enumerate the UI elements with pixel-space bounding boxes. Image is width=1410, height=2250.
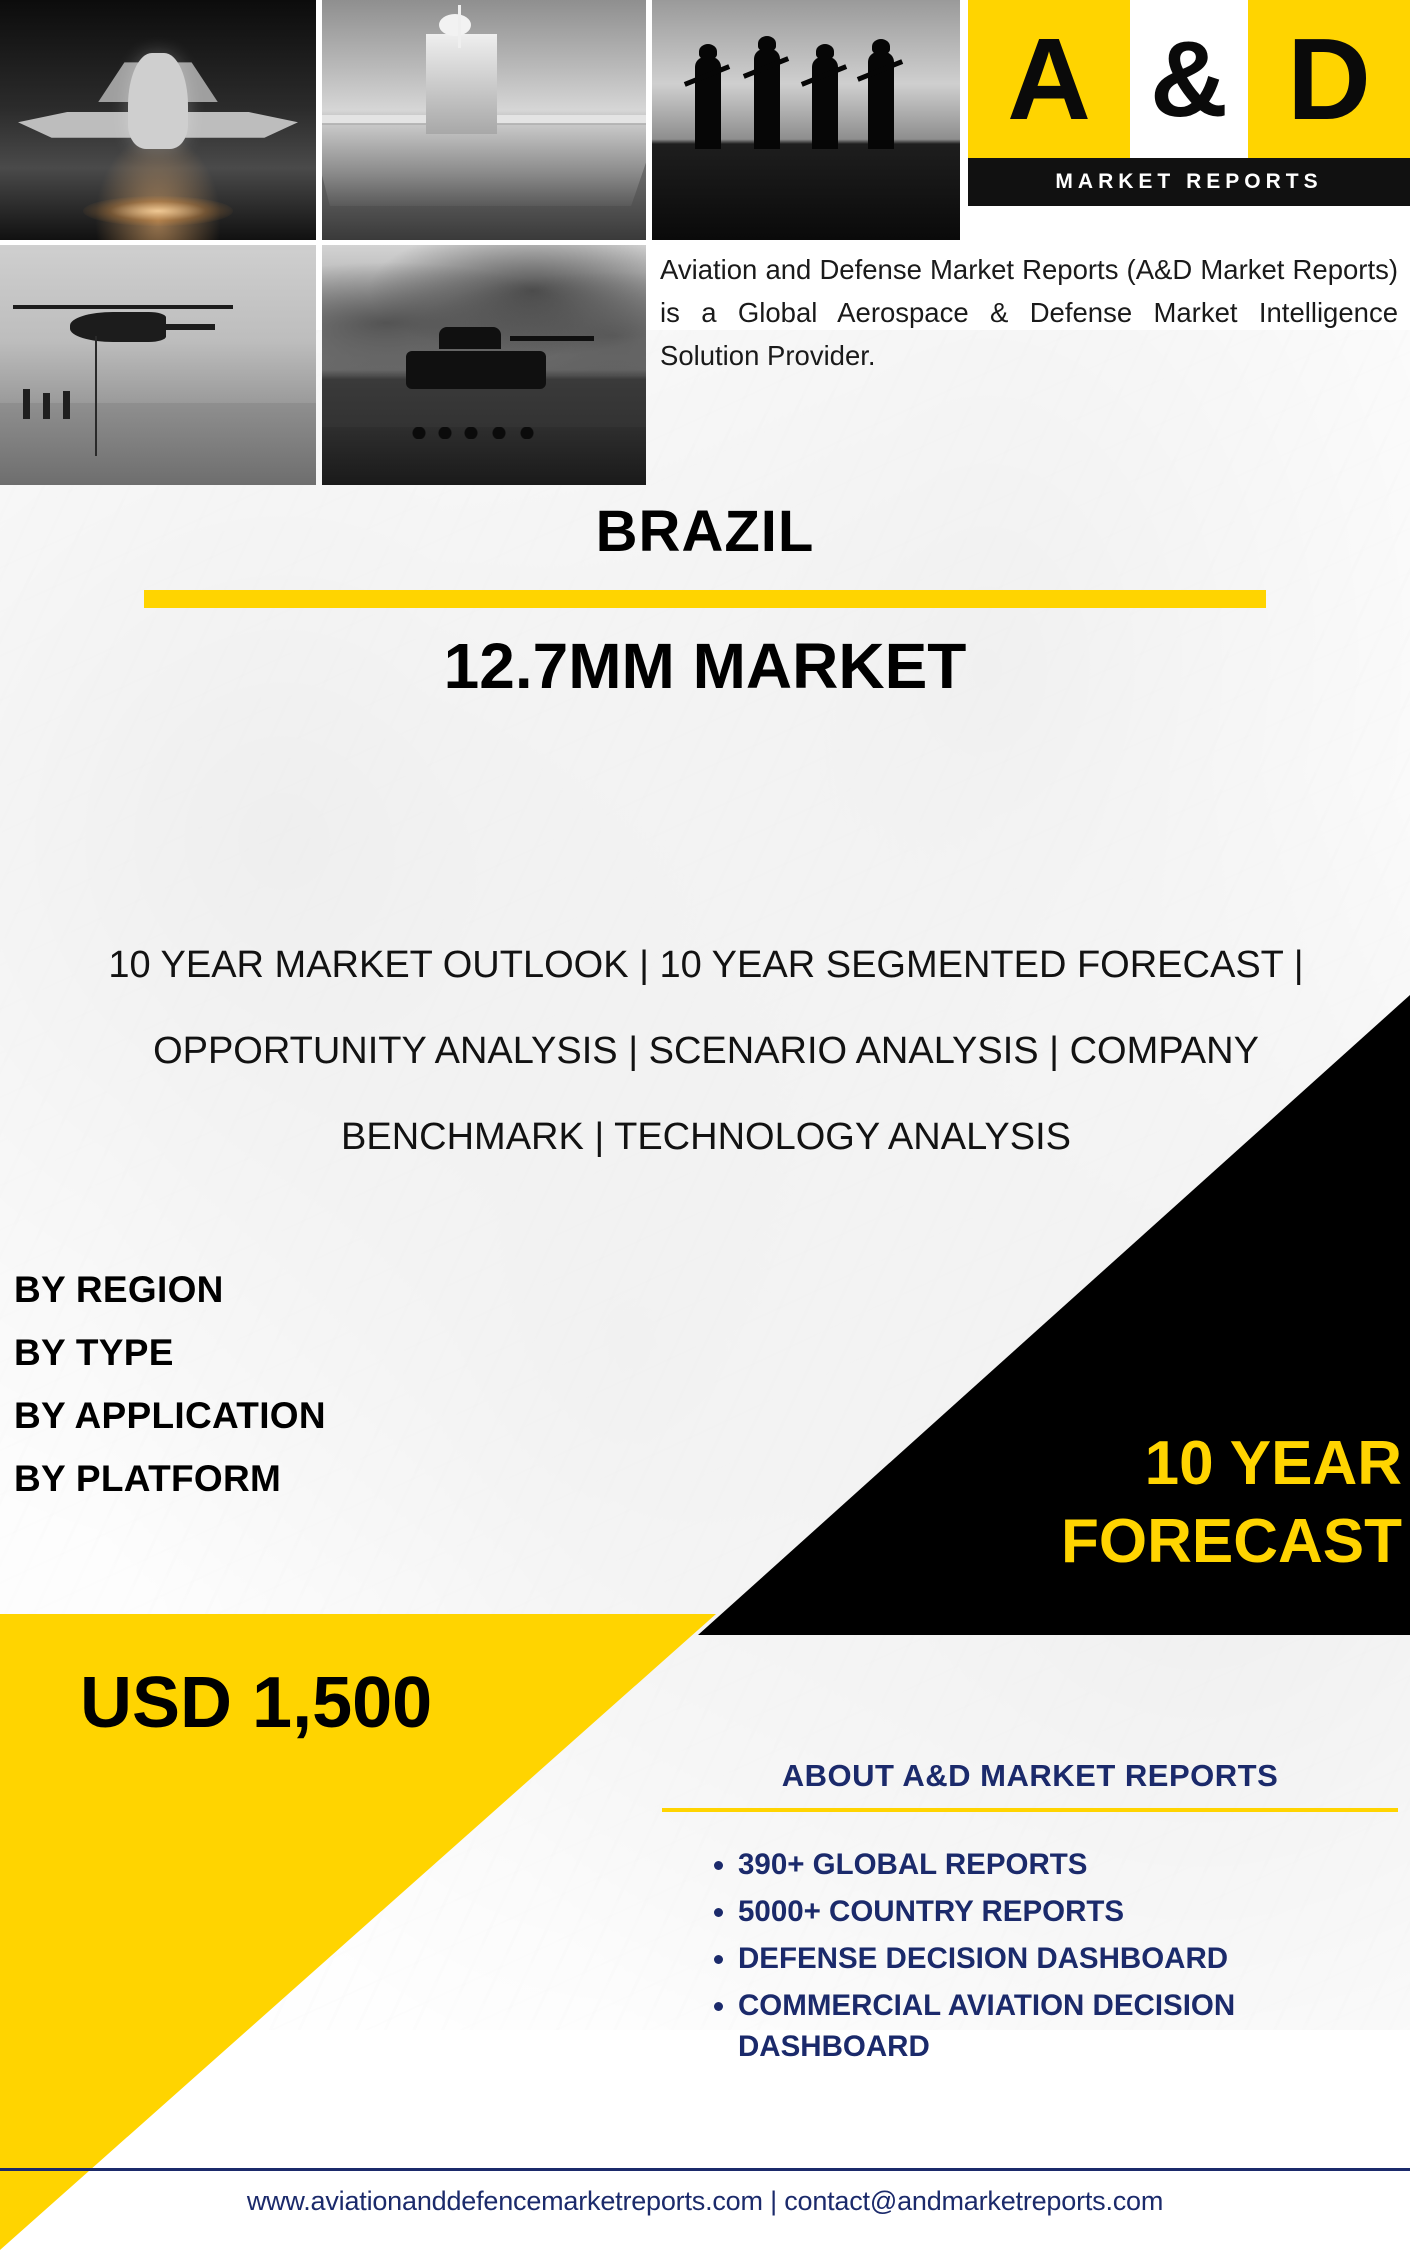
- soldier-silhouette: [695, 57, 721, 149]
- armored-vehicle-body-shape: [406, 351, 546, 389]
- soldier-silhouette: [812, 57, 838, 149]
- about-title: ABOUT A&D MARKET REPORTS: [660, 1758, 1400, 1794]
- report-cover-page: A & D MARKET REPORTS Aviation and Defens…: [0, 0, 1410, 2250]
- list-item: COMMERCIAL AVIATION DECISION DASHBOARD: [738, 1985, 1400, 2067]
- market-title: 12.7MM MARKET: [0, 630, 1410, 704]
- segmentation-list: BY REGION BY TYPE BY APPLICATION BY PLAT…: [14, 1258, 326, 1510]
- list-item: 390+ GLOBAL REPORTS: [738, 1844, 1400, 1885]
- title-block: BRAZIL 12.7MM MARKET: [0, 500, 1410, 703]
- title-divider: [144, 590, 1266, 608]
- country-title: BRAZIL: [0, 500, 1410, 564]
- helicopter-tail-shape: [145, 324, 215, 330]
- soldier-silhouette: [868, 52, 894, 149]
- list-item: DEFENSE DECISION DASHBOARD: [738, 1938, 1400, 1979]
- soldier-silhouette: [754, 49, 780, 149]
- fighter-jet-photo: [0, 0, 316, 240]
- footer-divider: [0, 2168, 1410, 2171]
- helicopter-rotor-shape: [13, 305, 233, 309]
- armored-vehicle-turret-shape: [439, 327, 501, 349]
- about-section: ABOUT A&D MARKET REPORTS 390+ GLOBAL REP…: [660, 1758, 1400, 2073]
- jet-afterburner-glow: [83, 196, 233, 226]
- about-list: 390+ GLOBAL REPORTS 5000+ COUNTRY REPORT…: [660, 1844, 1400, 2067]
- list-item: 5000+ COUNTRY REPORTS: [738, 1891, 1400, 1932]
- segment-item-type: BY TYPE: [14, 1321, 326, 1384]
- brand-logo: A & D MARKET REPORTS: [968, 0, 1410, 215]
- segment-item-platform: BY PLATFORM: [14, 1447, 326, 1510]
- logo-tagline: MARKET REPORTS: [968, 158, 1410, 206]
- helicopter-photo: [0, 245, 316, 485]
- armored-vehicle-photo: [322, 245, 646, 485]
- segment-item-application: BY APPLICATION: [14, 1384, 326, 1447]
- logo-letter-a: A: [968, 0, 1130, 158]
- carrier-mast-shape: [458, 5, 461, 48]
- carrier-hull-shape: [322, 125, 646, 207]
- about-title-underline: [662, 1808, 1398, 1812]
- carrier-tower-shape: [426, 34, 497, 135]
- aircraft-carrier-photo: [322, 0, 646, 240]
- forecast-badge: 10 YEAR FORECAST: [842, 1425, 1402, 1581]
- carrier-radar-shape: [439, 14, 471, 36]
- segment-item-region: BY REGION: [14, 1258, 326, 1321]
- helicopter-troops-shape: [19, 389, 79, 423]
- report-features-text: 10 YEAR MARKET OUTLOOK | 10 YEAR SEGMENT…: [46, 922, 1366, 1180]
- forecast-badge-line2: FORECAST: [842, 1503, 1402, 1581]
- logo-ampersand: &: [1130, 0, 1248, 158]
- footer-contact: www.aviationanddefencemarketreports.com …: [0, 2186, 1410, 2217]
- soldiers-silhouette-photo: [652, 0, 960, 240]
- jet-body-shape: [128, 53, 188, 149]
- header-section: A & D MARKET REPORTS: [0, 0, 1410, 246]
- armored-vehicle-wheels-shape: [409, 427, 545, 439]
- photo-grid: [0, 0, 960, 485]
- logo-letters: A & D: [968, 0, 1410, 158]
- helicopter-rope-shape: [95, 336, 97, 456]
- price-label: USD 1,500: [80, 1662, 432, 1744]
- forecast-badge-line1: 10 YEAR: [842, 1425, 1402, 1503]
- logo-letter-d: D: [1248, 0, 1410, 158]
- armored-vehicle-gun-shape: [510, 336, 594, 341]
